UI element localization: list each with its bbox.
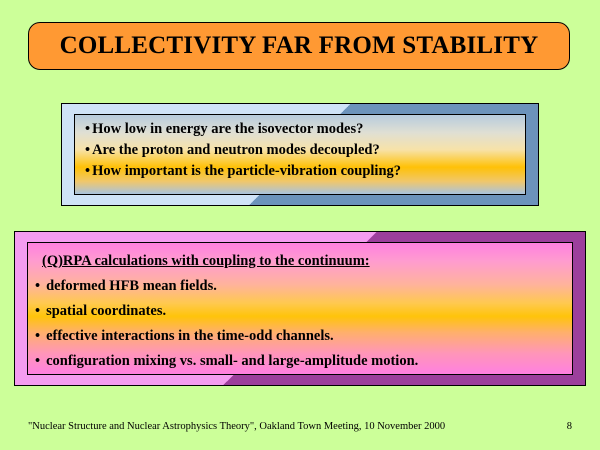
list-item: deformed HFB mean fields. bbox=[35, 274, 572, 299]
list-item: How important is the particle-vibration … bbox=[85, 161, 525, 182]
list-item: Are the proton and neutron modes decoupl… bbox=[85, 140, 525, 161]
page-number: 8 bbox=[567, 421, 572, 432]
footer-caption: "Nuclear Structure and Nuclear Astrophys… bbox=[28, 421, 445, 432]
list-item: How low in energy are the isovector mode… bbox=[85, 119, 525, 140]
page-title: COLLECTIVITY FAR FROM STABILITY bbox=[60, 32, 539, 60]
list-item: configuration mixing vs. small- and larg… bbox=[35, 349, 572, 374]
methods-panel: (Q)RPA calculations with coupling to the… bbox=[14, 231, 586, 386]
questions-list: How low in energy are the isovector mode… bbox=[75, 115, 525, 182]
slide-footer: "Nuclear Structure and Nuclear Astrophys… bbox=[28, 421, 572, 432]
methods-heading: (Q)RPA calculations with coupling to the… bbox=[35, 249, 572, 274]
list-item: spatial coordinates. bbox=[35, 299, 572, 324]
slide-title-banner: COLLECTIVITY FAR FROM STABILITY bbox=[28, 22, 570, 70]
list-item: effective interactions in the time-odd c… bbox=[35, 324, 572, 349]
questions-panel: How low in energy are the isovector mode… bbox=[61, 103, 539, 206]
methods-list: (Q)RPA calculations with coupling to the… bbox=[28, 243, 572, 374]
questions-panel-content: How low in energy are the isovector mode… bbox=[74, 114, 526, 195]
methods-panel-content: (Q)RPA calculations with coupling to the… bbox=[27, 242, 573, 375]
